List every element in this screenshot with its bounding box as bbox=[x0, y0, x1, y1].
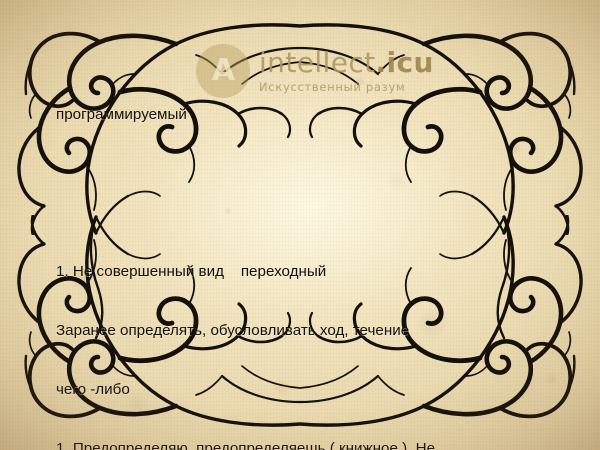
slide-canvas: A intellect.icu Искусственный разум прог… bbox=[0, 0, 600, 450]
entry-line: Заранее определять, обусловливать ход, т… bbox=[56, 321, 556, 341]
dictionary-entry: программируемый 1. Не совершенный вид пе… bbox=[56, 66, 556, 450]
headword: программируемый bbox=[56, 105, 556, 125]
entry-line: 1. Не совершенный вид переходный bbox=[56, 262, 556, 282]
entry-line: чего -либо bbox=[56, 380, 556, 400]
paragraph-spacer bbox=[56, 165, 556, 184]
entry-body: 1. Не совершенный вид переходный Заранее… bbox=[56, 223, 556, 450]
entry-line: 1. Предопределяю, предопределяешь ( книж… bbox=[56, 439, 556, 450]
